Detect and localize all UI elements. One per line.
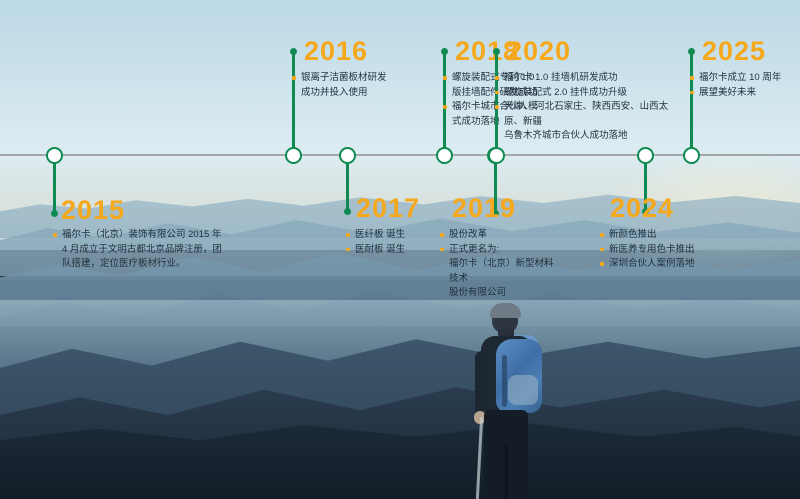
timeline-node-2025[interactable] <box>683 147 700 164</box>
timeline-entry-2016: 2016 银离子洁菌板材研发 成功并投入使用 <box>292 36 392 100</box>
timeline-node-2016[interactable] <box>285 147 302 164</box>
timeline-entry-2017: 2017 医纤板 诞生 医耐板 诞生 <box>346 193 436 257</box>
year-label-2020: 2020 <box>507 36 680 66</box>
bullet-item: 新颜色推出 <box>600 228 730 243</box>
backpack-pocket <box>508 375 538 405</box>
bullet-item: 新医养专用色卡推出 <box>600 243 730 258</box>
bullet-list-2015: 福尔卡（北京）装饰有限公司 2015 年 4 月成立于文明古都北京品牌注册，团 … <box>53 228 223 272</box>
bullet-item: 正式更名为: 福尔卡（北京）新型材料技术 股份有限公司 <box>440 243 555 301</box>
timeline-node-2015[interactable] <box>46 147 63 164</box>
bullet-item: 天津、 河北石家庄、陕西西安、山西太原、新疆 乌鲁木齐城市合伙人成功落地 <box>495 100 680 144</box>
timeline-entry-2015: 2015 福尔卡（北京）装饰有限公司 2015 年 4 月成立于文明古都北京品牌… <box>53 195 223 272</box>
bullet-list-2017: 医纤板 诞生 医耐板 诞生 <box>346 228 436 257</box>
bullet-item: 展望美好未来 <box>690 86 795 101</box>
timeline-entry-2020: 2020 福尔卡 1.0 挂墙机研发成功 螺旋装配式 2.0 挂件成功升级 天津… <box>495 36 680 144</box>
trekking-pole <box>476 417 483 499</box>
bullet-list-2016: 银离子洁菌板材研发 成功并投入使用 <box>292 71 392 100</box>
year-label-2017: 2017 <box>356 193 436 223</box>
timeline-axis <box>0 154 800 156</box>
timeline-node-2020[interactable] <box>488 147 505 164</box>
hiker-leg-split <box>505 445 508 499</box>
backpack-strap <box>502 355 507 407</box>
bullet-item: 医耐板 诞生 <box>346 243 436 258</box>
bullet-item: 福尔卡成立 10 周年 <box>690 71 795 86</box>
hiker-cap <box>490 303 521 318</box>
bullet-item: 福尔卡 1.0 挂墙机研发成功 <box>495 71 680 86</box>
bullet-item: 银离子洁菌板材研发 成功并投入使用 <box>292 71 392 100</box>
timeline-node-2018[interactable] <box>436 147 453 164</box>
timeline-entry-2024: 2024 新颜色推出 新医养专用色卡推出 深圳合伙人案例落地 <box>600 193 730 272</box>
bullet-list-2024: 新颜色推出 新医养专用色卡推出 深圳合伙人案例落地 <box>600 228 730 272</box>
timeline-entry-2019: 2019 股份改革 正式更名为: 福尔卡（北京）新型材料技术 股份有限公司 <box>440 193 555 301</box>
bullet-item: 福尔卡（北京）装饰有限公司 2015 年 4 月成立于文明古都北京品牌注册，团 … <box>53 228 223 272</box>
year-label-2025: 2025 <box>702 36 795 66</box>
year-label-2019: 2019 <box>452 193 555 223</box>
timeline-entry-2025: 2025 福尔卡成立 10 周年 展望美好未来 <box>690 36 795 100</box>
year-label-2024: 2024 <box>610 193 730 223</box>
bullet-list-2020: 福尔卡 1.0 挂墙机研发成功 螺旋装配式 2.0 挂件成功升级 天津、 河北石… <box>495 71 680 144</box>
year-label-2016: 2016 <box>304 36 392 66</box>
bullet-item: 股份改革 <box>440 228 555 243</box>
bullet-list-2019: 股份改革 正式更名为: 福尔卡（北京）新型材料技术 股份有限公司 <box>440 228 555 301</box>
timeline-node-2024[interactable] <box>637 147 654 164</box>
bullet-item: 螺旋装配式 2.0 挂件成功升级 <box>495 86 680 101</box>
infographic-canvas: 2015 福尔卡（北京）装饰有限公司 2015 年 4 月成立于文明古都北京品牌… <box>0 0 800 499</box>
hiker-figure <box>448 305 568 499</box>
bullet-list-2025: 福尔卡成立 10 周年 展望美好未来 <box>690 71 795 100</box>
bullet-item: 医纤板 诞生 <box>346 228 436 243</box>
hiker-arm <box>475 351 489 417</box>
year-label-2015: 2015 <box>61 195 223 225</box>
timeline-node-2017[interactable] <box>339 147 356 164</box>
bullet-item: 深圳合伙人案例落地 <box>600 257 730 272</box>
